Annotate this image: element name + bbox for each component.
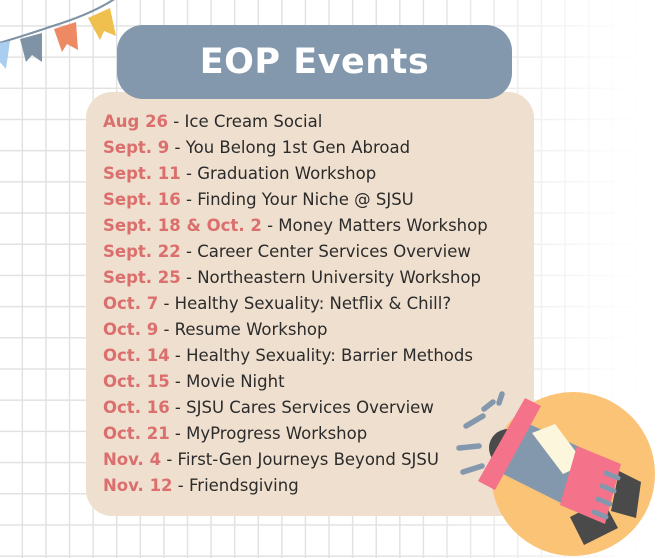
- event-title: Ice Cream Social: [185, 112, 323, 131]
- event-separator: -: [186, 242, 192, 261]
- event-date: Sept. 18 & Oct. 2: [103, 216, 262, 235]
- event-separator: -: [186, 268, 192, 287]
- list-item: Sept. 11 - Graduation Workshop: [103, 161, 533, 187]
- event-title: Career Center Services Overview: [197, 242, 471, 261]
- event-date: Oct. 9: [103, 320, 158, 339]
- event-title: Healthy Sexuality: Netflix & Chill?: [175, 294, 451, 313]
- list-item: Sept. 18 & Oct. 2 - Money Matters Worksh…: [103, 213, 533, 239]
- event-separator: -: [166, 450, 172, 469]
- bunting-flag-orange: [54, 22, 78, 52]
- event-date: Sept. 22: [103, 242, 181, 261]
- event-date: Oct. 7: [103, 294, 158, 313]
- page-title: EOP Events: [200, 42, 429, 82]
- event-title: Movie Night: [186, 372, 284, 391]
- event-separator: -: [163, 294, 169, 313]
- event-title: MyProgress Workshop: [186, 424, 367, 443]
- bunting-flag-yellow: [88, 8, 116, 40]
- event-date: Sept. 9: [103, 138, 169, 157]
- event-date: Nov. 12: [103, 476, 173, 495]
- event-title: Finding Your Niche @ SJSU: [197, 190, 414, 209]
- event-title: Graduation Workshop: [197, 164, 376, 183]
- list-item: Sept. 9 - You Belong 1st Gen Abroad: [103, 135, 533, 161]
- event-title: Money Matters Workshop: [278, 216, 487, 235]
- event-title: Resume Workshop: [175, 320, 328, 339]
- event-separator: -: [163, 320, 169, 339]
- event-title: SJSU Cares Services Overview: [186, 398, 434, 417]
- event-title: You Belong 1st Gen Abroad: [186, 138, 410, 157]
- bunting-flag-blue-light: [0, 41, 10, 69]
- list-item: Sept. 16 - Finding Your Niche @ SJSU: [103, 187, 533, 213]
- event-title: First-Gen Journeys Beyond SJSU: [178, 450, 439, 469]
- eop-events-poster: EOP Events Aug 26 - Ice Cream Social Sep…: [0, 0, 664, 558]
- list-item: Sept. 22 - Career Center Services Overvi…: [103, 239, 533, 265]
- event-separator: -: [175, 372, 181, 391]
- event-date: Sept. 16: [103, 190, 181, 209]
- list-item: Oct. 7 - Healthy Sexuality: Netflix & Ch…: [103, 291, 533, 317]
- event-separator: -: [186, 164, 192, 183]
- event-date: Nov. 4: [103, 450, 161, 469]
- list-item: Sept. 25 - Northeastern University Works…: [103, 265, 533, 291]
- megaphone-icon: [455, 378, 664, 558]
- list-item: Aug 26 - Ice Cream Social: [103, 109, 533, 135]
- event-date: Oct. 14: [103, 346, 170, 365]
- list-item: Oct. 14 - Healthy Sexuality: Barrier Met…: [103, 343, 533, 369]
- event-separator: -: [175, 424, 181, 443]
- event-separator: -: [186, 190, 192, 209]
- event-title: Healthy Sexuality: Barrier Methods: [186, 346, 473, 365]
- event-date: Oct. 15: [103, 372, 170, 391]
- list-item: Oct. 9 - Resume Workshop: [103, 317, 533, 343]
- event-date: Aug 26: [103, 112, 168, 131]
- event-title: Northeastern University Workshop: [197, 268, 481, 287]
- event-separator: -: [178, 476, 184, 495]
- event-separator: -: [175, 138, 181, 157]
- event-date: Oct. 16: [103, 398, 170, 417]
- bunting-flag-blue-gray: [20, 33, 42, 62]
- event-separator: -: [175, 398, 181, 417]
- event-date: Sept. 25: [103, 268, 181, 287]
- event-date: Oct. 21: [103, 424, 170, 443]
- title-banner: EOP Events: [117, 25, 512, 99]
- event-title: Friendsgiving: [189, 476, 299, 495]
- event-separator: -: [267, 216, 273, 235]
- event-separator: -: [173, 112, 179, 131]
- event-date: Sept. 11: [103, 164, 181, 183]
- event-separator: -: [175, 346, 181, 365]
